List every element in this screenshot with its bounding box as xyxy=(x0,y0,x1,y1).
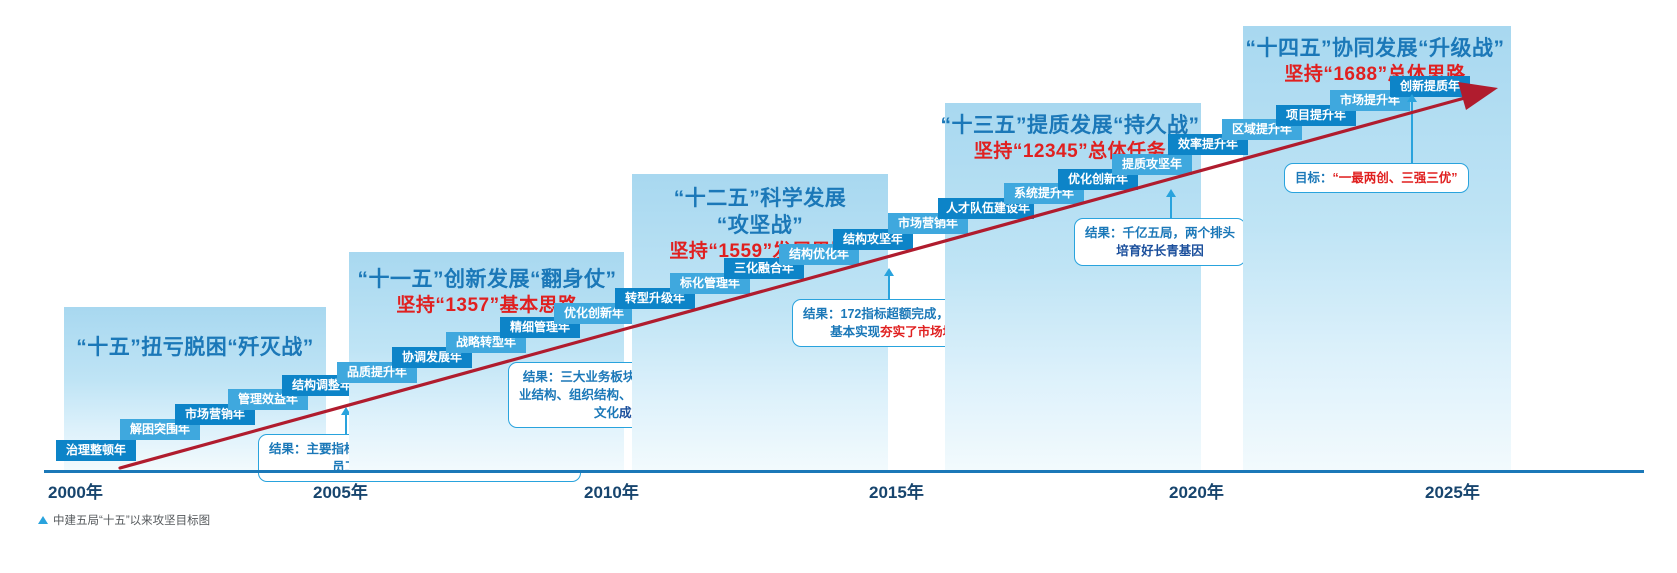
footer-caption-text: 中建五局“十五”以来攻坚目标图 xyxy=(53,512,210,528)
era-title-text-14-5: “十四五”协同发展“升级战” xyxy=(1200,36,1550,63)
axis-tick-2010: 2010年 xyxy=(584,478,639,503)
callout-goal-prefix: 目标： xyxy=(1295,171,1333,185)
step-chip-15-1[interactable]: 治理整顿年 xyxy=(56,440,136,461)
callout-line-13-5-1: 结果：千亿五局，两个排头 xyxy=(1085,224,1235,242)
callout-line-13-5-2: 培育好长青基因 xyxy=(1085,242,1235,260)
callout-goal-emph: “一最两创、三强三优” xyxy=(1333,171,1458,185)
callout-goal-14-5: 目标：“一最两创、三强三优” xyxy=(1284,163,1469,193)
era-subtitle-14-5: 坚持“1688”总体思路 xyxy=(1200,63,1550,87)
callout-line-12-5-2-prefix: 基本实现 xyxy=(830,325,880,339)
infographic-canvas: “十五”扭亏脱困“歼灭战” 治理整顿年 解困突围年 市场营销年 管理效益年 结构… xyxy=(0,0,1677,573)
axis-tick-2020: 2020年 xyxy=(1169,478,1224,503)
axis-tick-2005: 2005年 xyxy=(313,478,368,503)
axis-tick-2000: 2000年 xyxy=(48,478,103,503)
axis-tick-2015: 2015年 xyxy=(869,478,924,503)
callout-stem-14-5 xyxy=(1411,101,1413,163)
footer-caption: 中建五局“十五”以来攻坚目标图 xyxy=(38,512,210,528)
callout-result-13-5: 结果：千亿五局，两个排头 培育好长青基因 xyxy=(1074,218,1246,266)
callout-line-14-5-1: 目标：“一最两创、三强三优” xyxy=(1295,169,1458,187)
timeline-axis xyxy=(44,470,1644,473)
callout-stem-12-5 xyxy=(888,275,890,302)
callout-line-11-5-3-prefix: 文化 xyxy=(594,406,619,420)
step-chip-14-5-5[interactable]: 创新提质年 xyxy=(1390,76,1470,97)
triangle-up-icon xyxy=(38,516,48,524)
step-chip-13-5-5[interactable]: 提质攻坚年 xyxy=(1112,154,1192,175)
era-title-15: “十五”扭亏脱困“歼灭战” xyxy=(64,335,326,362)
era-title-text-11-5: “十一五”创新发展“翻身仗” xyxy=(337,267,637,294)
axis-tick-2025: 2025年 xyxy=(1425,478,1480,503)
era-title-14-5: “十四五”协同发展“升级战” 坚持“1688”总体思路 xyxy=(1200,36,1550,87)
era-title-text-12-5: “十二五”科学发展 xyxy=(620,186,900,213)
era-title-text-15: “十五”扭亏脱困“歼灭战” xyxy=(64,335,326,362)
